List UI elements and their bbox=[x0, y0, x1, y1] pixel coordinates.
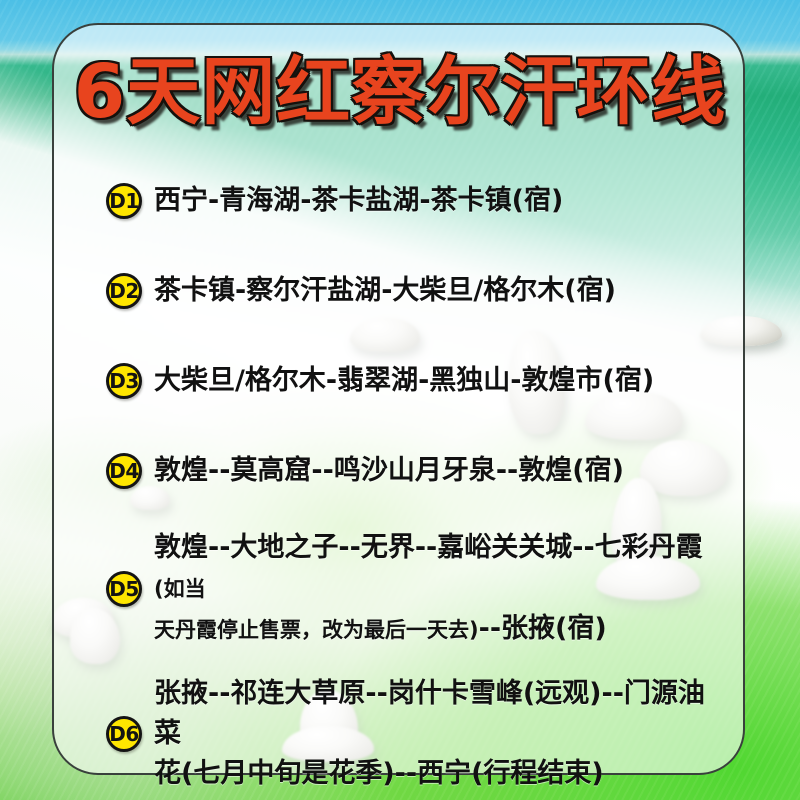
day-route-line: 敦煌--大地之子--无界--嘉峪关关城--七彩丹霞(如当 bbox=[154, 528, 706, 609]
day-route-text: 大柴旦/格尔木-翡翠湖-黑独山-敦煌市(宿) bbox=[154, 361, 654, 401]
day-route-line: 大柴旦/格尔木-翡翠湖-黑独山-敦煌市(宿) bbox=[154, 361, 654, 401]
day-route-segment: 大柴旦/格尔木-翡翠湖-黑独山-敦煌市(宿) bbox=[154, 365, 654, 396]
day-route-text: 敦煌--莫高窟--鸣沙山月牙泉--敦煌(宿) bbox=[154, 451, 624, 491]
day-badge: D4 bbox=[106, 453, 142, 489]
day-badge: D2 bbox=[106, 273, 142, 309]
day-route-line: 天丹霞停止售票，改为最后一天去)--张掖(宿) bbox=[154, 609, 706, 650]
day-route-line: 敦煌--莫高窟--鸣沙山月牙泉--敦煌(宿) bbox=[154, 451, 624, 491]
day-route-text: 敦煌--大地之子--无界--嘉峪关关城--七彩丹霞(如当天丹霞停止售票，改为最后… bbox=[154, 528, 706, 650]
day-route-text: 西宁-青海湖-茶卡盐湖-茶卡镇(宿) bbox=[154, 181, 563, 221]
day-badge: D6 bbox=[106, 716, 142, 752]
day-route-segment: (如当 bbox=[154, 577, 206, 601]
itinerary-row: D3大柴旦/格尔木-翡翠湖-黑独山-敦煌市(宿) bbox=[106, 348, 706, 414]
day-badge: D3 bbox=[106, 363, 142, 399]
travel-itinerary-poster: 6天网红察尔汗环线 D1西宁-青海湖-茶卡盐湖-茶卡镇(宿)D2茶卡镇-察尔汗盐… bbox=[0, 0, 800, 800]
itinerary-row: D4敦煌--莫高窟--鸣沙山月牙泉--敦煌(宿) bbox=[106, 438, 706, 504]
itinerary-row: D1西宁-青海湖-茶卡盐湖-茶卡镇(宿) bbox=[106, 168, 706, 234]
day-route-segment: 天丹霞停止售票，改为最后一天去) bbox=[154, 618, 479, 642]
day-route-line: 张掖--祁连大草原--岗什卡雪峰(远观)--门源油菜 bbox=[154, 674, 706, 754]
day-route-text: 茶卡镇-察尔汗盐湖-大柴旦/格尔木(宿) bbox=[154, 271, 616, 311]
day-route-segment: 茶卡镇-察尔汗盐湖-大柴旦/格尔木(宿) bbox=[154, 275, 616, 306]
day-route-segment: 张掖--祁连大草原--岗什卡雪峰(远观)--门源油菜 bbox=[154, 678, 705, 749]
itinerary-row: D2茶卡镇-察尔汗盐湖-大柴旦/格尔木(宿) bbox=[106, 258, 706, 324]
itinerary-list: D1西宁-青海湖-茶卡盐湖-茶卡镇(宿)D2茶卡镇-察尔汗盐湖-大柴旦/格尔木(… bbox=[106, 168, 706, 800]
day-route-segment: 花(七月中旬是花季)--西宁(行程结束) bbox=[154, 758, 604, 789]
day-badge: D1 bbox=[106, 183, 142, 219]
itinerary-row: D6张掖--祁连大草原--岗什卡雪峰(远观)--门源油菜花(七月中旬是花季)--… bbox=[106, 674, 706, 794]
day-route-line: 茶卡镇-察尔汗盐湖-大柴旦/格尔木(宿) bbox=[154, 271, 616, 311]
day-route-segment: 西宁-青海湖-茶卡盐湖-茶卡镇(宿) bbox=[154, 185, 563, 216]
day-route-line: 花(七月中旬是花季)--西宁(行程结束) bbox=[154, 754, 706, 794]
day-route-segment: 敦煌--大地之子--无界--嘉峪关关城--七彩丹霞 bbox=[154, 532, 703, 563]
poster-title: 6天网红察尔汗环线 bbox=[0, 50, 800, 134]
day-route-segment: --张掖(宿) bbox=[479, 613, 607, 644]
day-badge: D5 bbox=[106, 571, 142, 607]
day-route-line: 西宁-青海湖-茶卡盐湖-茶卡镇(宿) bbox=[154, 181, 563, 221]
itinerary-row: D5敦煌--大地之子--无界--嘉峪关关城--七彩丹霞(如当天丹霞停止售票，改为… bbox=[106, 528, 706, 650]
day-route-text: 张掖--祁连大草原--岗什卡雪峰(远观)--门源油菜花(七月中旬是花季)--西宁… bbox=[154, 674, 706, 794]
day-route-segment: 敦煌--莫高窟--鸣沙山月牙泉--敦煌(宿) bbox=[154, 455, 624, 486]
